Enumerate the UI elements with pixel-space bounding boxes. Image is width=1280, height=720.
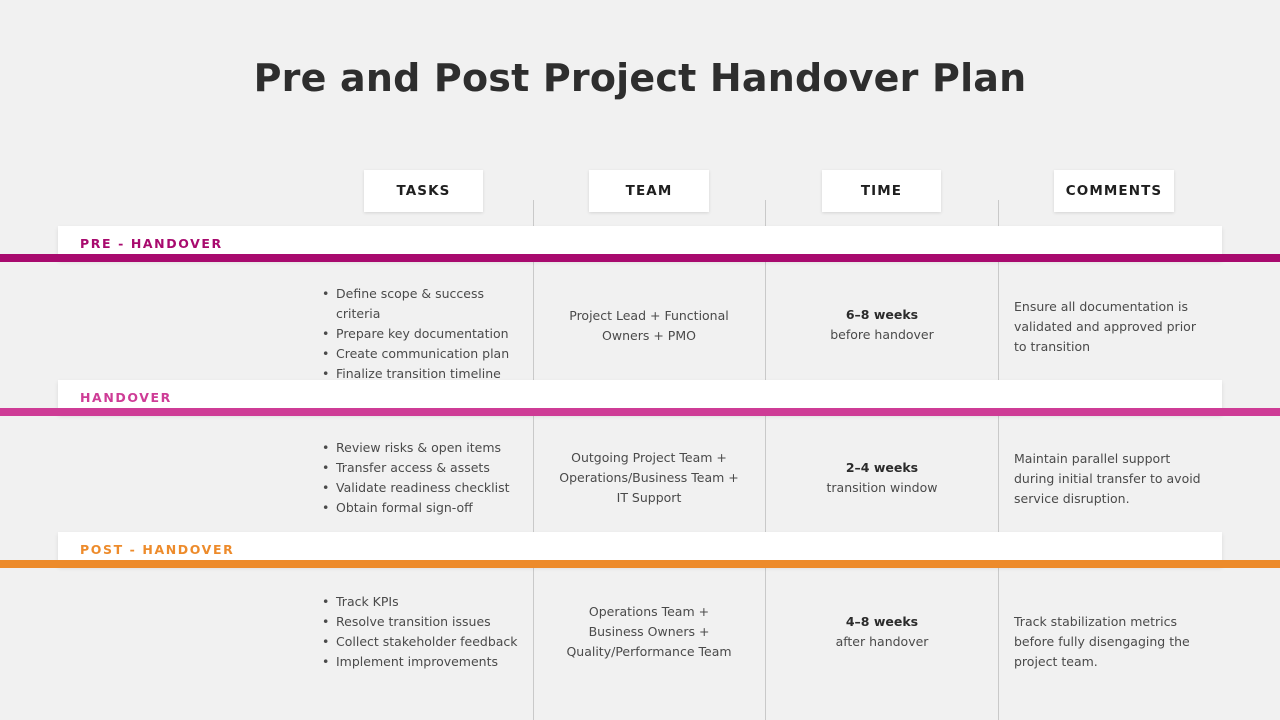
tasks-cell-handover: •Review risks & open items •Transfer acc… [310, 438, 525, 518]
task-item: •Collect stakeholder feedback [310, 632, 525, 652]
bullet-icon: • [322, 344, 329, 364]
task-list-handover: •Review risks & open items •Transfer acc… [310, 438, 525, 518]
column-header-tasks-label: TASKS [396, 183, 450, 199]
time-duration: 4–8 weeks [790, 612, 974, 632]
task-item: •Obtain formal sign-off [310, 498, 525, 518]
bullet-icon: • [322, 592, 329, 612]
tasks-cell-post-handover: •Track KPIs •Resolve transition issues •… [310, 592, 525, 672]
bullet-icon: • [322, 324, 329, 344]
task-item-label: Resolve transition issues [336, 614, 491, 629]
team-line: Business Owners + [545, 622, 753, 642]
column-header-tasks: TASKS [364, 170, 483, 212]
task-item: •Implement improvements [310, 652, 525, 672]
team-line: Project Lead + Functional [545, 306, 753, 326]
team-line: Quality/Performance Team [545, 642, 753, 662]
comment-text: Track stabilization metrics before fully… [1014, 612, 1210, 672]
task-item: •Define scope & success criteria [310, 284, 525, 324]
bullet-icon: • [322, 612, 329, 632]
phase-row-handover: •Review risks & open items •Transfer acc… [0, 430, 1280, 540]
task-item-label: Review risks & open items [336, 440, 501, 455]
time-qualifier: before handover [790, 325, 974, 345]
bullet-icon: • [322, 438, 329, 458]
task-item-label: Validate readiness checklist [336, 480, 510, 495]
comments-cell-handover: Maintain parallel support during initial… [1014, 449, 1210, 509]
bullet-icon: • [322, 652, 329, 672]
team-line: Owners + PMO [545, 326, 753, 346]
column-header-team-label: TEAM [626, 183, 673, 199]
phase-row-pre-handover: •Define scope & success criteria •Prepar… [0, 276, 1280, 386]
task-item-label: Transfer access & assets [336, 460, 490, 475]
bullet-icon: • [322, 478, 329, 498]
phase-accent-bar-handover [0, 408, 1280, 416]
task-item-label: Implement improvements [336, 654, 498, 669]
bullet-icon: • [322, 284, 329, 304]
task-item-label: Track KPIs [336, 594, 399, 609]
task-item: •Track KPIs [310, 592, 525, 612]
task-item: •Review risks & open items [310, 438, 525, 458]
comment-text: Ensure all documentation is validated an… [1014, 297, 1210, 357]
team-cell-handover: Outgoing Project Team + Operations/Busin… [545, 448, 753, 508]
phase-label-post-handover: POST - HANDOVER [58, 542, 234, 557]
team-line: Outgoing Project Team + [545, 448, 753, 468]
task-item: •Validate readiness checklist [310, 478, 525, 498]
time-cell-post-handover: 4–8 weeks after handover [790, 612, 974, 652]
team-line: Operations/Business Team + [545, 468, 753, 488]
team-cell-pre-handover: Project Lead + Functional Owners + PMO [545, 306, 753, 346]
task-list-post-handover: •Track KPIs •Resolve transition issues •… [310, 592, 525, 672]
task-item: •Transfer access & assets [310, 458, 525, 478]
time-qualifier: after handover [790, 632, 974, 652]
bullet-icon: • [322, 498, 329, 518]
team-line: IT Support [545, 488, 753, 508]
task-list-pre-handover: •Define scope & success criteria •Prepar… [310, 284, 525, 384]
comment-text: Maintain parallel support during initial… [1014, 449, 1210, 509]
comments-cell-post-handover: Track stabilization metrics before fully… [1014, 612, 1210, 672]
tasks-cell-pre-handover: •Define scope & success criteria •Prepar… [310, 284, 525, 384]
task-item: •Create communication plan [310, 344, 525, 364]
time-duration: 2–4 weeks [790, 458, 974, 478]
task-item: •Resolve transition issues [310, 612, 525, 632]
column-header-team: TEAM [589, 170, 709, 212]
phase-label-handover: HANDOVER [58, 390, 172, 405]
time-duration: 6–8 weeks [790, 305, 974, 325]
task-item-label: Prepare key documentation [336, 326, 509, 341]
page-title: Pre and Post Project Handover Plan [0, 56, 1280, 100]
task-item-label: Finalize transition timeline [336, 366, 501, 381]
phase-row-post-handover: •Track KPIs •Resolve transition issues •… [0, 584, 1280, 694]
phase-label-pre-handover: PRE - HANDOVER [58, 236, 223, 251]
time-qualifier: transition window [790, 478, 974, 498]
phase-accent-bar-post-handover [0, 560, 1280, 568]
column-header-row: TASKS TEAM TIME COMMENTS [0, 170, 1280, 212]
task-item-label: Collect stakeholder feedback [336, 634, 518, 649]
task-item-label: Create communication plan [336, 346, 509, 361]
comments-cell-pre-handover: Ensure all documentation is validated an… [1014, 297, 1210, 357]
bullet-icon: • [322, 632, 329, 652]
phase-accent-bar-pre-handover [0, 254, 1280, 262]
team-cell-post-handover: Operations Team + Business Owners + Qual… [545, 602, 753, 662]
bullet-icon: • [322, 458, 329, 478]
task-item-label: Define scope & success criteria [336, 286, 484, 321]
column-header-comments: COMMENTS [1054, 170, 1174, 212]
task-item: •Prepare key documentation [310, 324, 525, 344]
column-header-comments-label: COMMENTS [1066, 183, 1163, 199]
time-cell-pre-handover: 6–8 weeks before handover [790, 305, 974, 345]
time-cell-handover: 2–4 weeks transition window [790, 458, 974, 498]
team-line: Operations Team + [545, 602, 753, 622]
task-item-label: Obtain formal sign-off [336, 500, 473, 515]
column-header-time-label: TIME [861, 183, 902, 199]
column-header-time: TIME [822, 170, 941, 212]
